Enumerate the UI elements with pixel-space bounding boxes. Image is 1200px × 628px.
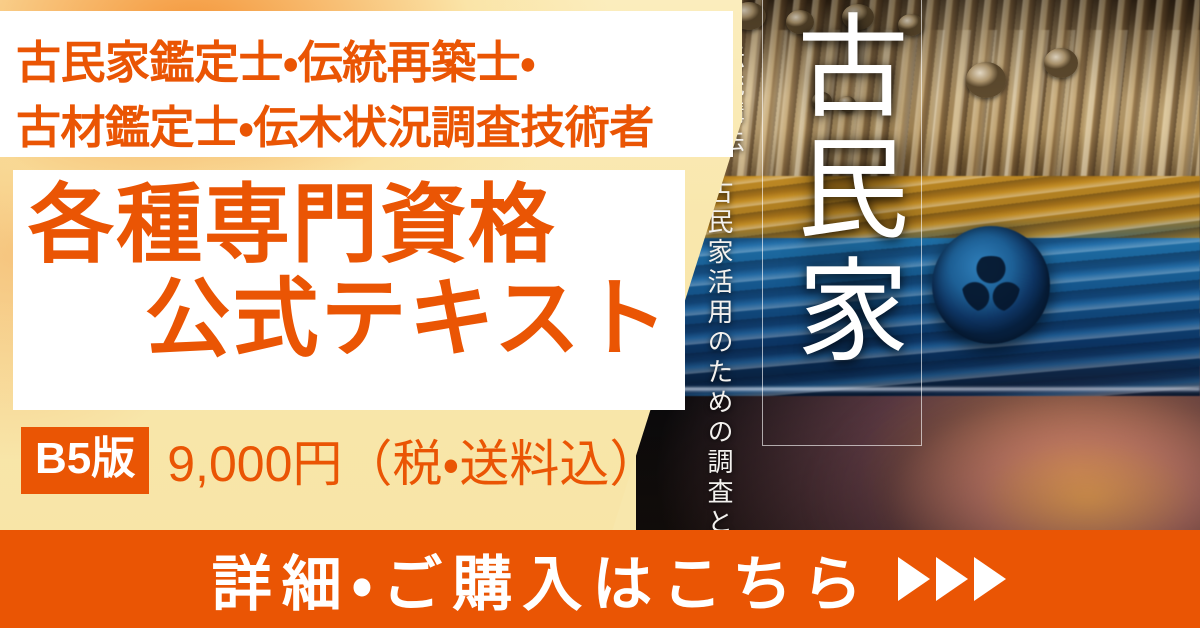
- arrow-right-icon: [898, 557, 930, 601]
- headline-text: 各種専門資格 公式テキスト: [24, 182, 684, 363]
- certifications-line-2: 古材鑑定士・伝木状況調査技術者: [16, 96, 728, 161]
- cover-title: 古民家: [778, 8, 906, 448]
- promo-banner: 古民家 伝統構法 古民家活用のための調査と再生の 古民家鑑定士・伝統再築士・ 古…: [0, 0, 1200, 628]
- arrow-right-icon: [936, 557, 968, 601]
- price-amount: 9,000円（税・送料込）: [167, 424, 659, 496]
- headline-line-1: 各種専門資格: [24, 182, 684, 270]
- headline-line-2: 公式テキスト: [24, 276, 684, 364]
- certifications-line-1: 古民家鑑定士・伝統再築士・: [16, 31, 728, 96]
- cta-arrows: [898, 557, 1006, 601]
- certifications-panel: 古民家鑑定士・伝統再築士・ 古材鑑定士・伝木状況調査技術者: [0, 11, 733, 157]
- arrow-right-icon: [974, 557, 1006, 601]
- cta-button-bar[interactable]: 詳細・ご購入はこちら: [0, 530, 1200, 628]
- certifications-text: 古民家鑑定士・伝統再築士・ 古材鑑定士・伝木状況調査技術者: [16, 31, 728, 161]
- price-row: B5版 9,000円（税・送料込）: [21, 424, 659, 496]
- format-badge-b5: B5版: [21, 427, 149, 494]
- cta-label: 詳細・ご購入はこちら: [194, 536, 872, 623]
